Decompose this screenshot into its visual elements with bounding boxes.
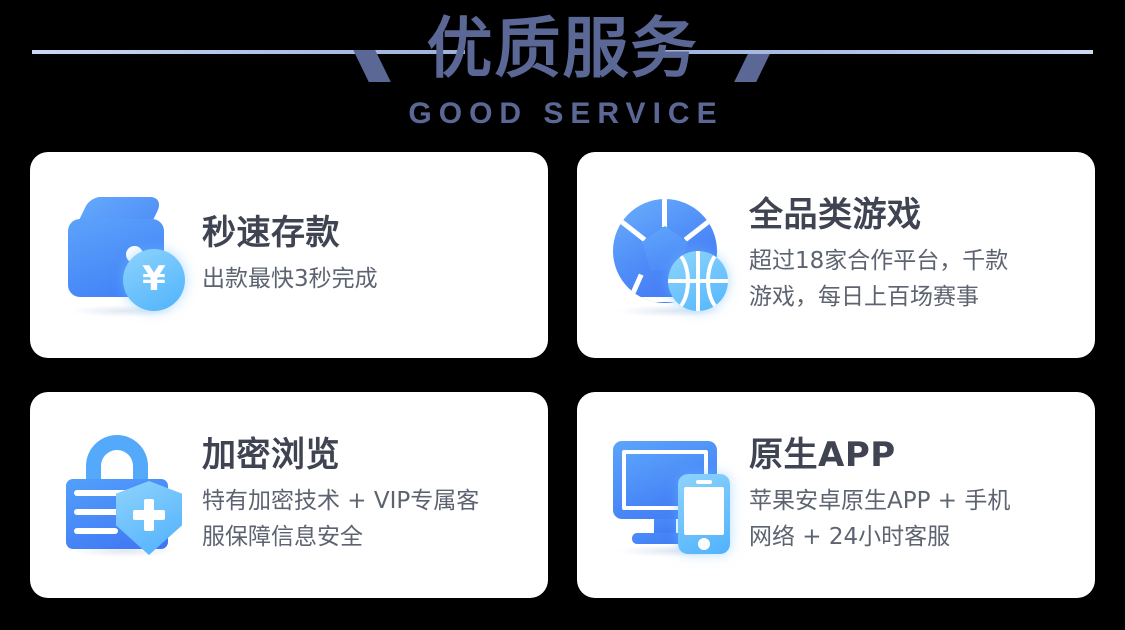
feature-card-title: 原生APP — [749, 433, 1079, 477]
feature-card-encryption[interactable]: 加密浏览 特有加密技术 + VIP专属客 服保障信息安全 — [30, 392, 548, 598]
phone-icon — [678, 474, 730, 554]
feature-card-games[interactable]: 全品类游戏 超过18家合作平台，千款 游戏，每日上百场赛事 — [577, 152, 1095, 358]
page-title: 优质服务 — [0, 8, 1125, 90]
feature-card-deposit[interactable]: ¥ 秒速存款 出款最快3秒完成 — [30, 152, 548, 358]
feature-card-desc-line: 出款最快3秒完成 — [202, 261, 532, 297]
monitor-phone-icon — [607, 429, 739, 561]
wallet-yen-icon: ¥ — [60, 189, 192, 321]
feature-card-grid: ¥ 秒速存款 出款最快3秒完成 — [30, 152, 1095, 598]
feature-card-desc-line: 特有加密技术 + VIP专属客 — [202, 483, 532, 519]
basketball-icon — [668, 251, 728, 311]
yen-coin-icon: ¥ — [123, 249, 185, 311]
feature-card-title: 全品类游戏 — [749, 193, 1079, 237]
page-header: 优质服务 GOOD SERVICE — [0, 0, 1125, 150]
feature-card-title: 加密浏览 — [202, 433, 532, 477]
feature-card-desc-line: 游戏，每日上百场赛事 — [749, 279, 1079, 315]
feature-card-title: 秒速存款 — [202, 211, 532, 255]
currency-symbol: ¥ — [142, 262, 166, 296]
feature-card-desc-line: 苹果安卓原生APP + 手机 — [749, 483, 1079, 519]
feature-card-desc-line: 超过18家合作平台，千款 — [749, 243, 1079, 279]
feature-card-text: 加密浏览 特有加密技术 + VIP专属客 服保障信息安全 — [192, 433, 532, 557]
feature-card-native-app[interactable]: 原生APP 苹果安卓原生APP + 手机 网络 + 24小时客服 — [577, 392, 1095, 598]
feature-card-desc-line: 网络 + 24小时客服 — [749, 519, 1079, 555]
page-subtitle: GOOD SERVICE — [0, 96, 1125, 132]
feature-card-text: 原生APP 苹果安卓原生APP + 手机 网络 + 24小时客服 — [739, 433, 1079, 557]
feature-card-text: 秒速存款 出款最快3秒完成 — [192, 211, 532, 299]
lock-shield-icon — [60, 429, 192, 561]
soccer-basketball-icon — [607, 189, 739, 321]
page-root: 优质服务 GOOD SERVICE ¥ 秒速存款 出款最快3秒完成 — [0, 0, 1125, 630]
feature-card-text: 全品类游戏 超过18家合作平台，千款 游戏，每日上百场赛事 — [739, 193, 1079, 317]
feature-card-desc-line: 服保障信息安全 — [202, 519, 532, 555]
